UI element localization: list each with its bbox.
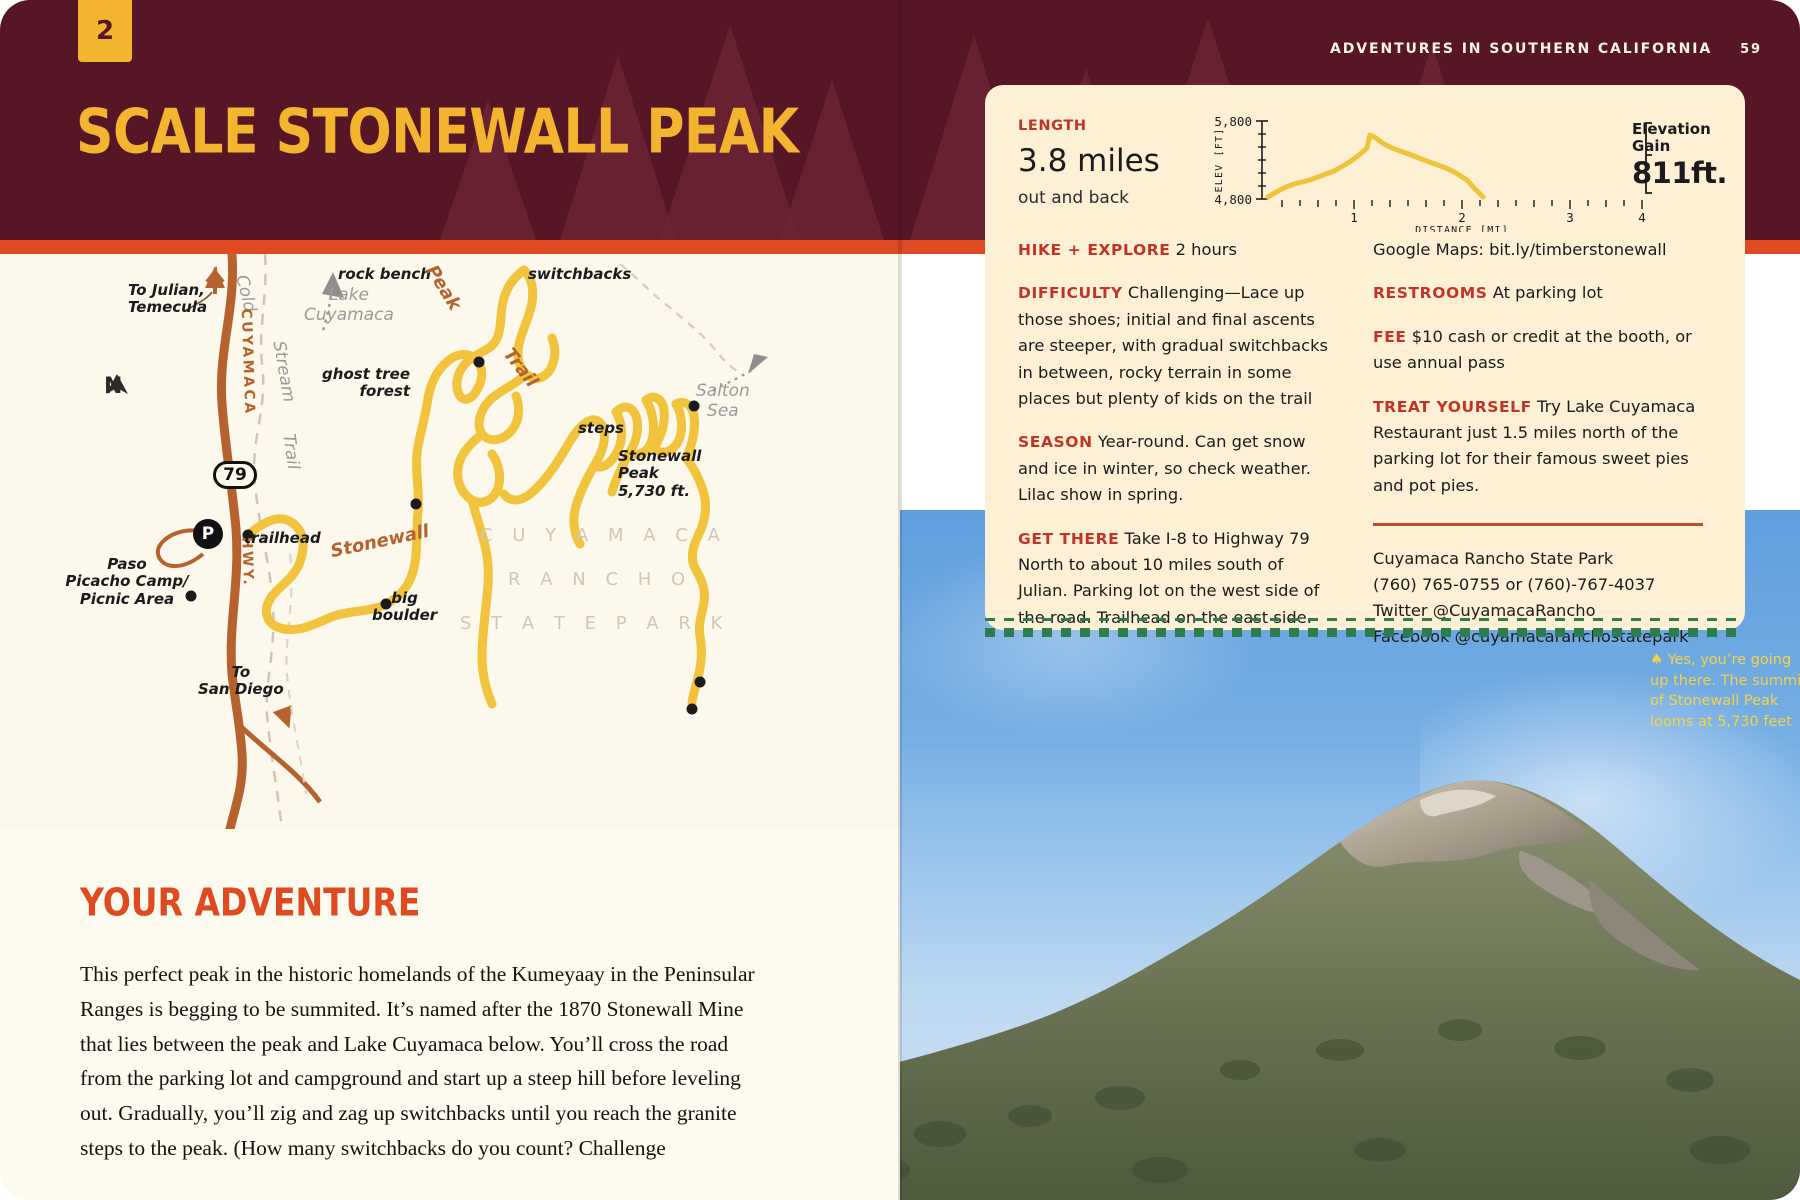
info-column-left: HIKE + EXPLORE 2 hours DIFFICULTY Challe… [1018,237,1330,648]
info-entry-season: SEASON Year-round. Can get snow and ice … [1018,429,1330,508]
map-label-park-line-2: R A N C H O [508,570,692,591]
map-label-park-line-1: C U Y A M A C A [480,526,727,547]
secondary-trail-dashed [286,554,306,794]
contact-divider [1373,523,1703,526]
map-label-to-san-diego: To San Diego [198,664,284,699]
map-label-park-line-3: S T A T E P A R K [460,614,729,635]
compass-arrow-icon [104,374,130,402]
left-page: 2 SCALE STONEWALL PEAK [0,0,900,1200]
card-dashed-rule [985,628,1745,637]
x-axis-title: DISTANCE [MI] [1415,225,1509,232]
entry-text: At parking lot [1488,283,1603,302]
page-number: 59 [1740,42,1762,57]
y-axis-title: ELEV [FT] [1214,128,1225,193]
map-point-ghost-tree [411,499,422,510]
map-label-paso-picacho: Paso Picacho Camp/ Picnic Area [58,556,196,608]
parking-marker-icon: P [193,519,223,549]
header-accent-rule [0,240,900,254]
length-kicker: LENGTH [1018,118,1160,134]
map-label-big-boulder: big boulder [372,590,437,625]
entry-text: 2 hours [1170,240,1237,259]
x-tick-label-3: 3 [1566,210,1574,225]
map-label-ghost-tree-forest: ghost tree forest [300,366,410,401]
x-tick-label-2: 2 [1458,210,1466,225]
compass-north-icon: N [104,374,122,399]
info-entry-hike-explore: HIKE + EXPLORE 2 hours [1018,237,1330,263]
map-label-switchbacks: switchbacks [528,266,631,283]
map-point-steps [695,677,706,688]
photo-caption: ♠ Yes, you’re going up there. The summit… [1650,650,1800,732]
entry-kicker: SEASON [1018,433,1093,451]
entry-text: Google Maps: bit.ly/timberstonewall [1373,240,1666,259]
map-label-to-julian: To Julian, Temecula [128,282,207,317]
x-tick-label-4: 4 [1638,210,1646,225]
adventure-body-text: This perfect peak in the historic homela… [80,957,760,1166]
info-entry-google-maps[interactable]: Google Maps: bit.ly/timberstonewall [1373,237,1703,263]
elevation-profile-chart: 5,800 4,800 ELEV [FT] [1200,107,1725,232]
map-label-stonewall-peak: Stonewall Peak 5,730 ft. [618,448,701,500]
your-adventure-section: YOUR ADVENTURE This perfect peak in the … [80,880,760,1166]
info-entry-treat-yourself: TREAT YOURSELF Try Lake Cuyamaca Restaur… [1373,394,1703,500]
map-point-rock-bench [474,357,485,368]
elevation-series-line [1268,135,1483,197]
entry-kicker: HIKE + EXPLORE [1018,241,1170,259]
entry-kicker: GET THERE [1018,530,1119,548]
page-title: SCALE STONEWALL PEAK [76,97,799,168]
trail-map[interactable]: N 79 P To Julian, Temecula Cold Stream T… [0,254,900,829]
map-label-steps: steps [578,420,624,437]
book-spine [898,0,902,1200]
elevation-gain-label: ElevationGain 811ft. [1632,121,1727,190]
map-label-salton-sea: Salton Sea [696,382,750,421]
chapter-number-badge: 2 [78,0,132,62]
entry-kicker: TREAT YOURSELF [1373,398,1532,416]
highway-79-road-south [230,754,242,829]
salton-pointer-arrow-icon [748,354,768,374]
running-head: ADVENTURES IN SOUTHERN CALIFORNIA 59 [1330,41,1762,57]
info-entry-difficulty: DIFFICULTY Challenging—Lace up those sho… [1018,280,1330,412]
to-julian-arrowhead-icon [205,266,225,288]
running-head-text: ADVENTURES IN SOUTHERN CALIFORNIA [1330,41,1712,57]
entry-kicker: FEE [1373,328,1407,346]
contact-park-name: Cuyamaca Rancho State Park [1373,546,1703,572]
x-axis-ticks [1282,200,1642,209]
entry-text: $10 cash or credit at the booth, or use … [1373,327,1692,372]
elevation-gain-title: ElevationGain [1632,121,1727,155]
length-block: LENGTH 3.8 miles out and back [1018,118,1160,208]
y-tick-label-top: 5,800 [1214,114,1252,129]
entry-kicker: DIFFICULTY [1018,284,1123,302]
x-tick-label-1: 1 [1350,210,1358,225]
mountain-silhouette [900,730,1800,1200]
map-label-lake-cuyamaca: Lake Cuyamaca [304,286,394,325]
trail-info-card: LENGTH 3.8 miles out and back 5,800 4,80… [985,85,1745,630]
highway-79-shield: 79 [213,461,257,489]
y-tick-label-bottom: 4,800 [1214,192,1252,207]
map-point-stonewall-peak [687,704,698,715]
adventure-heading: YOUR ADVENTURE [80,880,760,925]
park-boundary-dashed [620,264,742,374]
info-entry-restrooms: RESTROOMS At parking lot [1373,280,1703,306]
info-entry-fee: FEE $10 cash or credit at the booth, or … [1373,324,1703,377]
map-vector-layer [0,254,900,829]
contact-phone: (760) 765-0755 or (760)-767-4037 [1373,572,1703,598]
length-value: 3.8 miles [1018,143,1160,179]
card-dashed-rule-thin [985,618,1745,621]
length-subtext: out and back [1018,188,1160,208]
caption-marker-icon: ♠ [1650,652,1663,668]
info-entry-get-there: GET THERE Take I-8 to Highway 79 North t… [1018,526,1330,632]
entry-kicker: RESTROOMS [1373,284,1488,302]
road-fork [238,724,320,802]
map-label-trailhead: trailhead [244,530,321,547]
elevation-gain-value: 811ft. [1632,156,1727,190]
map-label-rock-bench: rock bench [338,266,431,283]
map-label-trail: Trail [278,433,302,471]
caption-text: Yes, you’re going up there. The summit o… [1650,652,1800,730]
info-column-right: Google Maps: bit.ly/timberstonewall REST… [1373,237,1703,650]
